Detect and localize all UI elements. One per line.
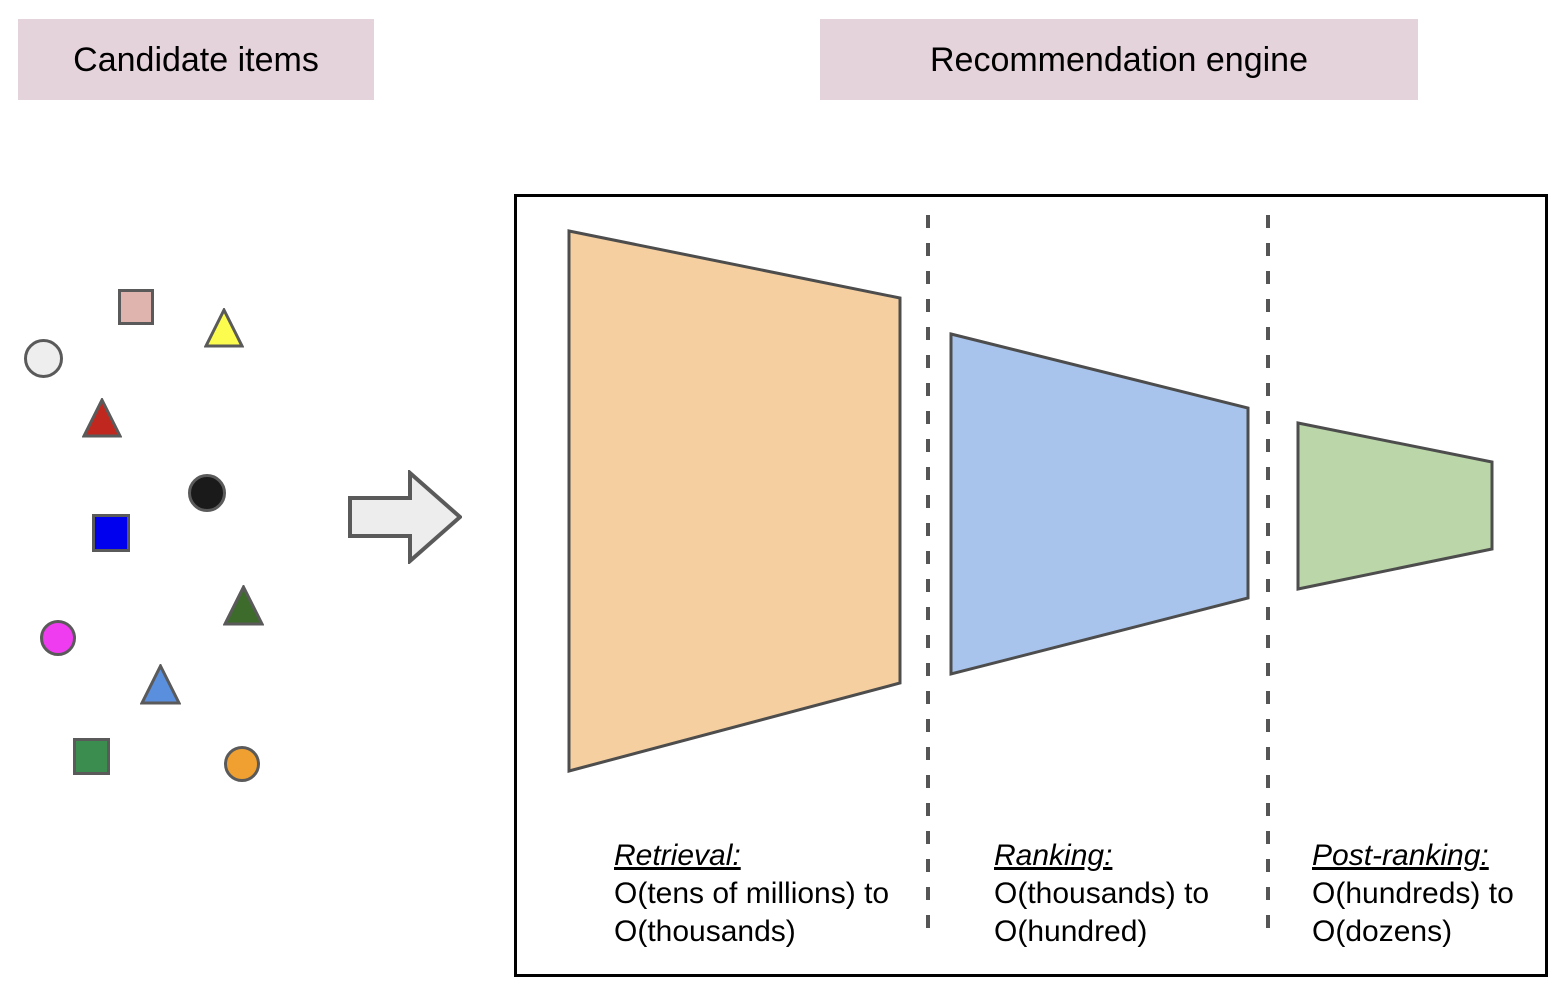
candidate-item-darkgreen-triangle [223,585,264,626]
stage-caption-retrieval: Retrieval: O(tens of millions) to O(thou… [614,837,924,951]
candidate-item-tan-square [118,289,154,325]
recommendation-engine-header-label: Recommendation engine [930,43,1308,77]
recommendation-engine-panel: Retrieval: O(tens of millions) to O(thou… [514,194,1548,977]
candidate-item-lightgray-circle [24,339,63,378]
recommendation-engine-header: Recommendation engine [820,19,1418,100]
stage-body-retrieval: O(tens of millions) to O(thousands) [614,875,924,951]
candidate-item-yellow-triangle [204,308,244,348]
stage-title-ranking: Ranking: [994,837,1284,875]
candidate-item-black-circle [188,474,226,512]
candidate-item-green-square [73,738,110,775]
candidate-item-darkred-triangle [82,398,122,438]
stage-title-retrieval: Retrieval: [614,837,924,875]
funnel-stage-retrieval [569,231,900,771]
stage-body-ranking: O(thousands) to O(hundred) [994,875,1284,951]
candidate-items-header-label: Candidate items [73,43,319,77]
stage-caption-post-ranking: Post-ranking: O(hundreds) to O(dozens) [1312,837,1568,951]
flow-arrow-icon [348,470,462,564]
stage-body-post-ranking: O(hundreds) to O(dozens) [1312,875,1568,951]
funnel-stage-ranking [951,334,1248,674]
diagram-canvas: Candidate items Recommendation engine Re… [0,0,1568,1000]
candidate-item-blue-square [92,514,130,552]
funnel-stage-post-ranking [1298,423,1492,589]
candidate-item-cornflower-triangle [140,664,181,705]
candidate-items-scatter [0,140,340,840]
stage-title-post-ranking: Post-ranking: [1312,837,1568,875]
candidate-items-header: Candidate items [18,19,374,100]
candidate-item-magenta-circle [40,620,76,656]
stage-caption-ranking: Ranking: O(thousands) to O(hundred) [994,837,1284,951]
candidate-item-orange-circle [224,746,260,782]
